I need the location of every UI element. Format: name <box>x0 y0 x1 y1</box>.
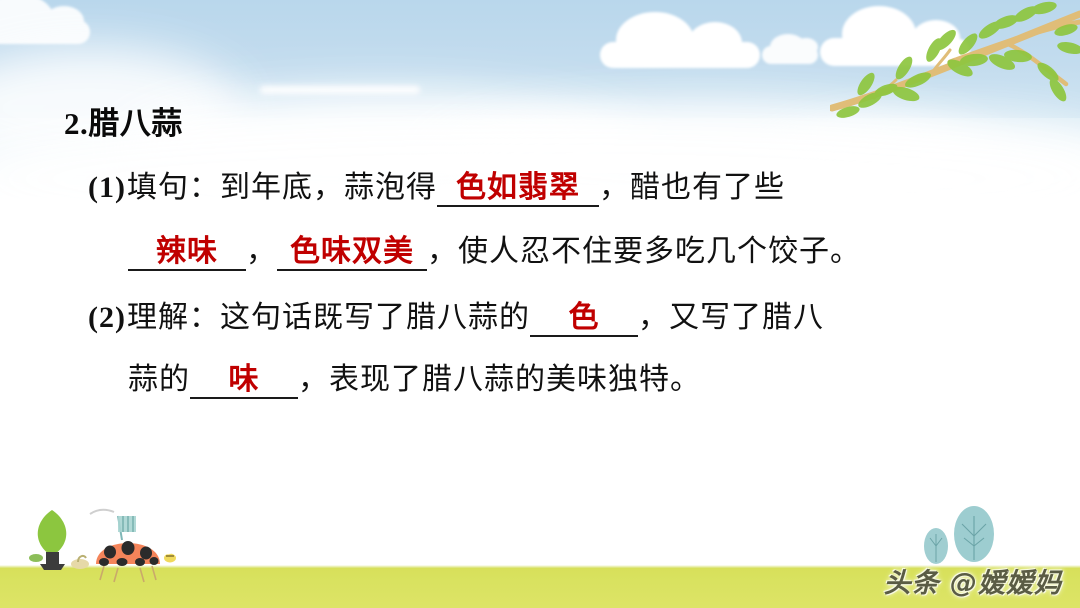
answer-blank-5[interactable]: 味 <box>190 365 298 399</box>
question-1-line-1: (1) 填句： 到年底，蒜泡得 色如翡翠 ，醋也有了些 <box>88 162 785 207</box>
answer-blank-1[interactable]: 色如翡翠 <box>437 173 599 207</box>
question-1-after: ，醋也有了些 <box>599 162 785 206</box>
question-2-tail: ，表现了腊八蒜的美味独特。 <box>298 354 701 398</box>
question-2-before: 这句话既写了腊八蒜的 <box>220 292 530 336</box>
answer-blank-3[interactable]: 色味双美 <box>277 237 427 271</box>
question-1-number: (1) <box>88 171 126 205</box>
question-1-tail: ，使人忍不住要多吃几个饺子。 <box>427 226 861 270</box>
question-2-label: 理解： <box>127 292 220 336</box>
slide-content: 2.腊八蒜 (1) 填句： 到年底，蒜泡得 色如翡翠 ，醋也有了些 辣味 ， 色… <box>0 0 1080 608</box>
slide-canvas: 头条 @嫒嫒妈 2.腊八蒜 (1) 填句： 到年底，蒜泡得 色如翡翠 ，醋也有了… <box>0 0 1080 608</box>
question-2-number: (2) <box>88 301 126 335</box>
question-1-before: 到年底，蒜泡得 <box>220 162 437 206</box>
question-1-line-2: 辣味 ， 色味双美 ，使人忍不住要多吃几个饺子。 <box>128 226 861 271</box>
question-2-line-2: 蒜的 味 ，表现了腊八蒜的美味独特。 <box>128 354 701 399</box>
answer-blank-4[interactable]: 色 <box>530 303 638 337</box>
question-1-mid: ， <box>246 226 277 270</box>
page-title: 2.腊八蒜 <box>64 98 183 143</box>
question-1-label: 填句： <box>127 162 220 206</box>
answer-blank-2[interactable]: 辣味 <box>128 237 246 271</box>
question-2-before-2: 蒜的 <box>128 354 190 398</box>
question-2-after: ，又写了腊八 <box>638 292 824 336</box>
question-2-line-1: (2) 理解： 这句话既写了腊八蒜的 色 ，又写了腊八 <box>88 292 824 337</box>
